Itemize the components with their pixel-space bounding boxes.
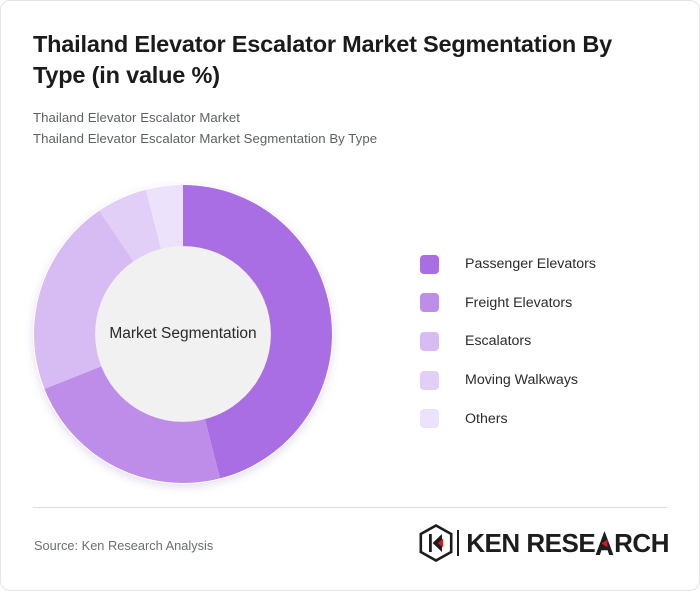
- breadcrumb-segmentation: Thailand Elevator Escalator Market Segme…: [33, 128, 667, 149]
- logo-wordmark: KEN RESE RCH: [466, 528, 669, 559]
- logo-separator: [457, 530, 459, 556]
- legend-item[interactable]: Passenger Elevators: [420, 245, 596, 284]
- legend-swatch-icon: [420, 255, 439, 274]
- legend-label: Escalators: [465, 333, 531, 349]
- logo-letter-a-icon: [595, 530, 614, 556]
- legend-swatch-icon: [420, 409, 439, 428]
- legend-item[interactable]: Freight Elevators: [420, 284, 596, 323]
- legend-label: Freight Elevators: [465, 295, 572, 311]
- donut-hole: [95, 246, 271, 422]
- source-note: Source: Ken Research Analysis: [34, 538, 213, 553]
- donut-svg: [33, 184, 333, 484]
- legend-swatch-icon: [420, 293, 439, 312]
- chart-area: Market Segmentation Passenger ElevatorsF…: [1, 169, 700, 499]
- legend-item[interactable]: Escalators: [420, 322, 596, 361]
- logo-text-part-2: RCH: [614, 528, 669, 559]
- breadcrumb-market: Thailand Elevator Escalator Market: [33, 107, 667, 128]
- legend-label: Moving Walkways: [465, 372, 578, 388]
- logo-text-part-1: KEN RESE: [466, 528, 595, 559]
- legend-label: Passenger Elevators: [465, 256, 596, 272]
- legend-swatch-icon: [420, 371, 439, 390]
- legend-swatch-icon: [420, 332, 439, 351]
- ken-research-logo-mark: [419, 524, 453, 562]
- legend-item[interactable]: Moving Walkways: [420, 361, 596, 400]
- page-title: Thailand Elevator Escalator Market Segme…: [33, 29, 667, 91]
- subtitle-group: Thailand Elevator Escalator Market Thail…: [33, 107, 667, 150]
- donut-chart: Market Segmentation: [33, 184, 333, 484]
- footer-divider: [33, 507, 667, 508]
- chart-header: Thailand Elevator Escalator Market Segme…: [33, 29, 667, 150]
- chart-card: Thailand Elevator Escalator Market Segme…: [0, 0, 700, 591]
- chart-legend: Passenger ElevatorsFreight ElevatorsEsca…: [420, 245, 596, 438]
- legend-label: Others: [465, 411, 508, 427]
- ken-research-logo: KEN RESE RCH: [419, 523, 669, 563]
- legend-item[interactable]: Others: [420, 399, 596, 438]
